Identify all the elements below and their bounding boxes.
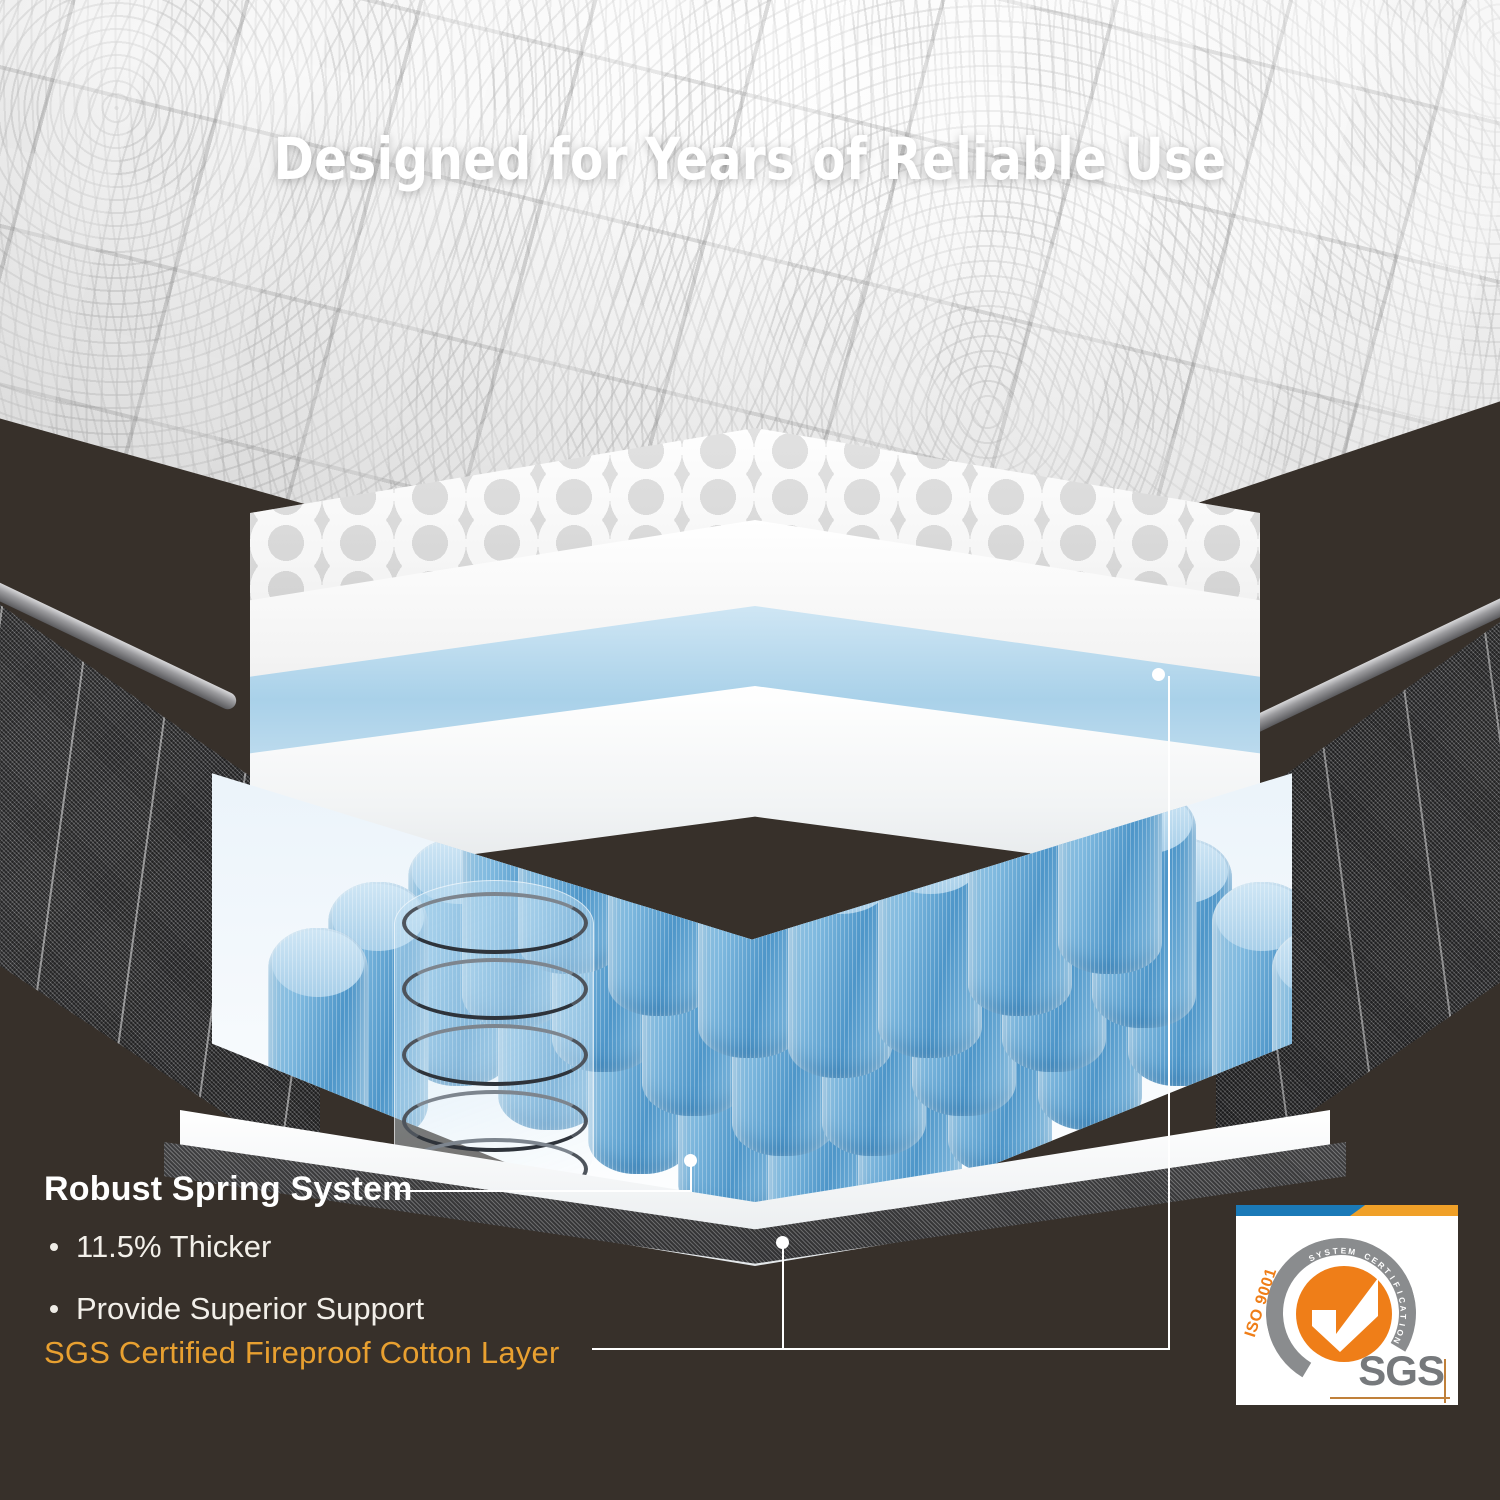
leader-line-fireproof-horizontal (592, 1348, 1170, 1350)
bullet-dot-icon (50, 1243, 58, 1251)
bullet-dot-icon (50, 1305, 58, 1313)
leader-line-spring-horizontal (400, 1190, 692, 1192)
badge-underline (1330, 1397, 1450, 1399)
leader-dot-fireproof (776, 1236, 789, 1249)
callout-fireproof-label: SGS Certified Fireproof Cotton Layer (44, 1335, 559, 1371)
infographic-canvas: Designed for Years of Reliable Use Robus… (0, 0, 1500, 1500)
leader-dot-spring (684, 1154, 697, 1167)
steel-coil-spring (402, 892, 592, 1192)
callout-bullet-list: 11.5% Thicker Provide Superior Support (44, 1229, 424, 1327)
badge-bar-orange (1350, 1205, 1458, 1216)
badge-tick-mark (1444, 1359, 1446, 1403)
list-item: 11.5% Thicker (44, 1229, 424, 1265)
leader-dot-cover (1152, 668, 1165, 681)
badge-bar-blue (1236, 1205, 1366, 1216)
list-item: Provide Superior Support (44, 1291, 424, 1327)
badge-top-bar (1236, 1205, 1458, 1216)
callout-spring-system: Robust Spring System 11.5% Thicker Provi… (44, 1170, 424, 1353)
badge-brand-text: SGS (1358, 1347, 1444, 1395)
bullet-label: 11.5% Thicker (76, 1229, 271, 1265)
checkmark-icon (1310, 1276, 1380, 1352)
page-title: Designed for Years of Reliable Use (53, 125, 1448, 193)
leader-line-fireproof-branch (782, 1244, 784, 1350)
callout-heading: Robust Spring System (44, 1170, 424, 1209)
sgs-certification-badge: SYSTEM CERTIFICATION ISO 9001 SGS (1236, 1205, 1458, 1405)
leader-line-cover-vertical (1168, 676, 1170, 1350)
bullet-label: Provide Superior Support (76, 1291, 424, 1327)
